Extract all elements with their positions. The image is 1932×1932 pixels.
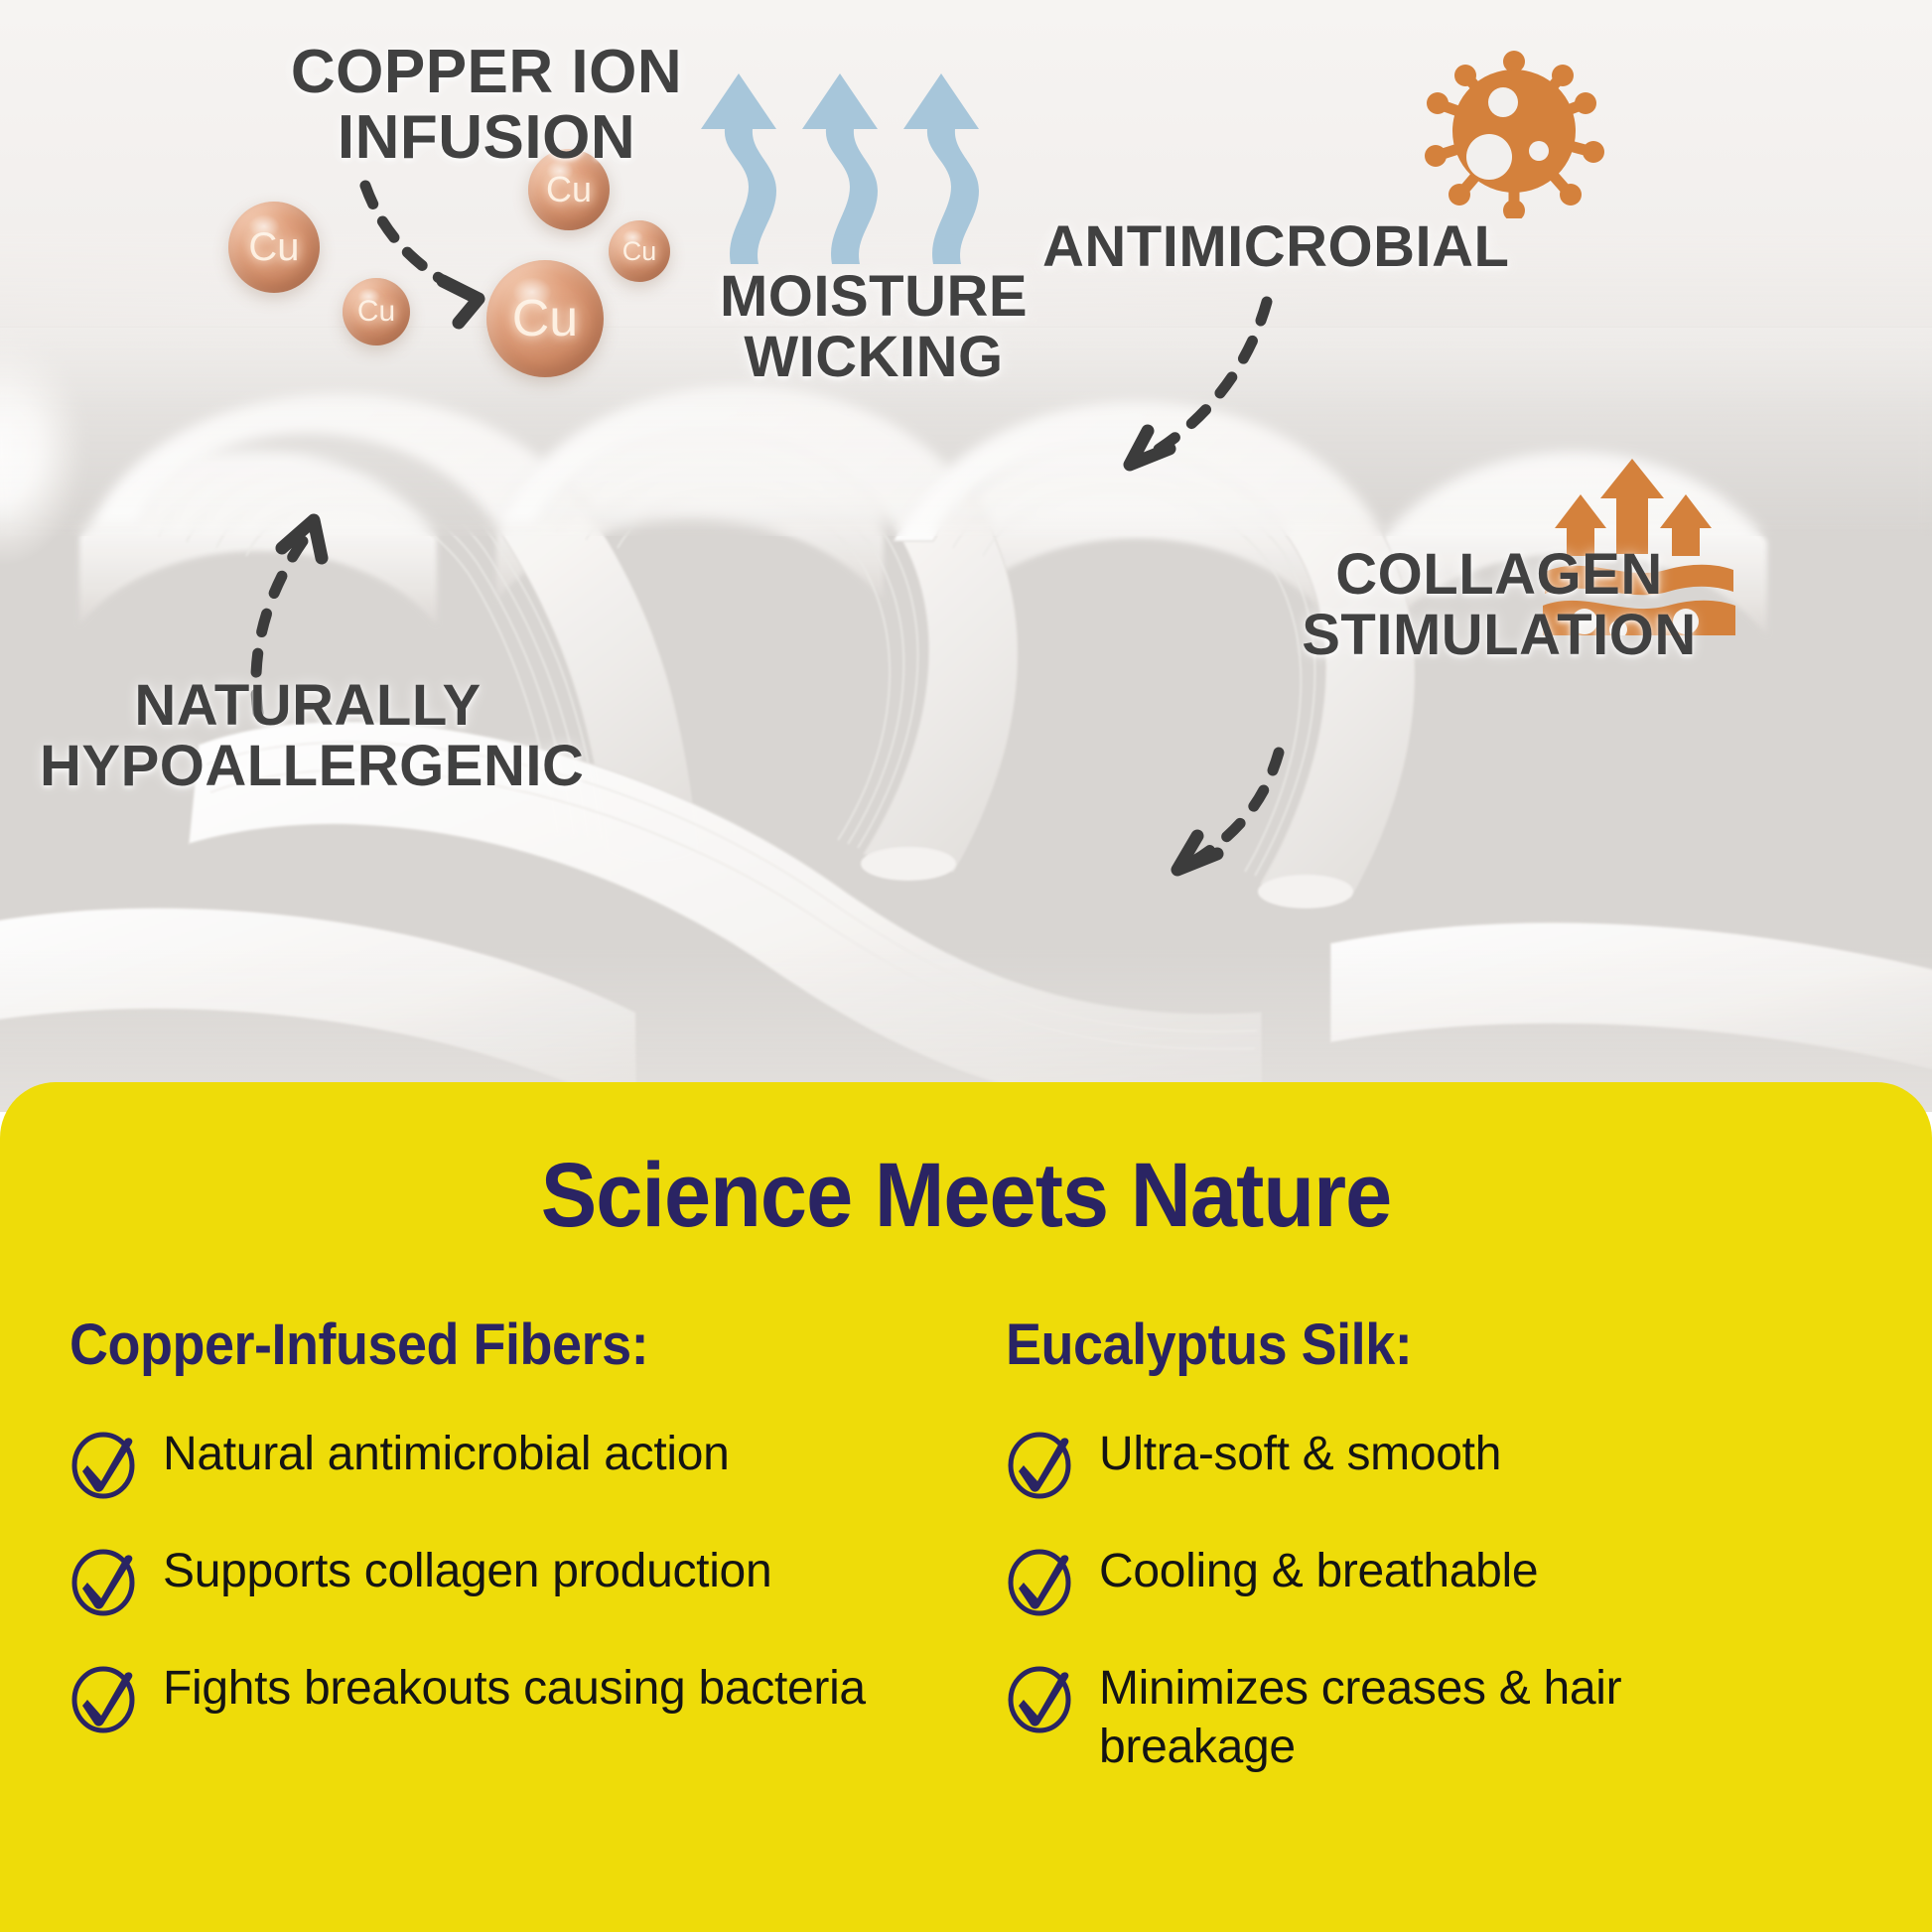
list-item: Fights breakouts causing bacteria xyxy=(69,1660,936,1733)
list-item-label: Ultra-soft & smooth xyxy=(1099,1426,1501,1484)
check-circle-icon xyxy=(69,1545,141,1616)
check-circle-icon xyxy=(69,1428,141,1499)
dashed-arrow-down-left xyxy=(1092,288,1291,486)
list-item: Ultra-soft & smooth xyxy=(1006,1426,1902,1499)
label-antimicrobial: ANTIMICROBIAL xyxy=(1042,216,1559,277)
check-circle-icon xyxy=(1006,1428,1077,1499)
benefit-columns: Copper-Infused Fibers: Natural antimicro… xyxy=(0,1311,1932,1820)
list-item-label: Minimizes creases & hair breakage xyxy=(1099,1660,1794,1776)
column-heading: Copper-Infused Fibers: xyxy=(69,1311,876,1378)
label-collagen-stimulation: COLLAGEN STIMULATION xyxy=(1172,544,1827,666)
list-item: Natural antimicrobial action xyxy=(69,1426,936,1499)
list-item-label: Supports collagen production xyxy=(163,1543,771,1601)
germ-icon xyxy=(1420,40,1608,218)
list-item-label: Natural antimicrobial action xyxy=(163,1426,730,1484)
list-item-label: Cooling & breathable xyxy=(1099,1543,1538,1601)
panel-title: Science Meets Nature xyxy=(77,1144,1855,1248)
label-naturally-hypoallergenic: NATURALLY HYPOALLERGENIC xyxy=(40,675,576,797)
fabric-photo-area: Cu Cu Cu Cu Cu xyxy=(0,0,1932,1112)
benefits-panel: Science Meets Nature Copper-Infused Fibe… xyxy=(0,1082,1932,1932)
list-item: Supports collagen production xyxy=(69,1543,936,1616)
label-moisture-wicking: MOISTURE WICKING xyxy=(695,266,1052,388)
copper-sphere-label: Cu xyxy=(248,225,299,270)
copper-sphere-label: Cu xyxy=(622,236,657,267)
infographic-page: Cu Cu Cu Cu Cu xyxy=(0,0,1932,1932)
dashed-arrow-down-left xyxy=(1132,675,1370,894)
list-item-label: Fights breakouts causing bacteria xyxy=(163,1660,866,1719)
label-copper-ion-infusion: COPPER ION INFUSION xyxy=(208,40,764,170)
copper-sphere-label: Cu xyxy=(546,169,592,210)
column-copper-infused-fibers: Copper-Infused Fibers: Natural antimicro… xyxy=(0,1311,966,1820)
column-heading: Eucalyptus Silk: xyxy=(1006,1311,1840,1378)
copper-sphere: Cu xyxy=(228,202,320,293)
check-circle-icon xyxy=(1006,1662,1077,1733)
list-item: Minimizes creases & hair breakage xyxy=(1006,1660,1902,1776)
dashed-arrow-down-right xyxy=(347,174,546,333)
check-circle-icon xyxy=(1006,1545,1077,1616)
check-circle-icon xyxy=(69,1662,141,1733)
column-eucalyptus-silk: Eucalyptus Silk: Ultra-soft & smooth Coo… xyxy=(966,1311,1932,1820)
list-item: Cooling & breathable xyxy=(1006,1543,1902,1616)
copper-sphere: Cu xyxy=(609,220,670,282)
